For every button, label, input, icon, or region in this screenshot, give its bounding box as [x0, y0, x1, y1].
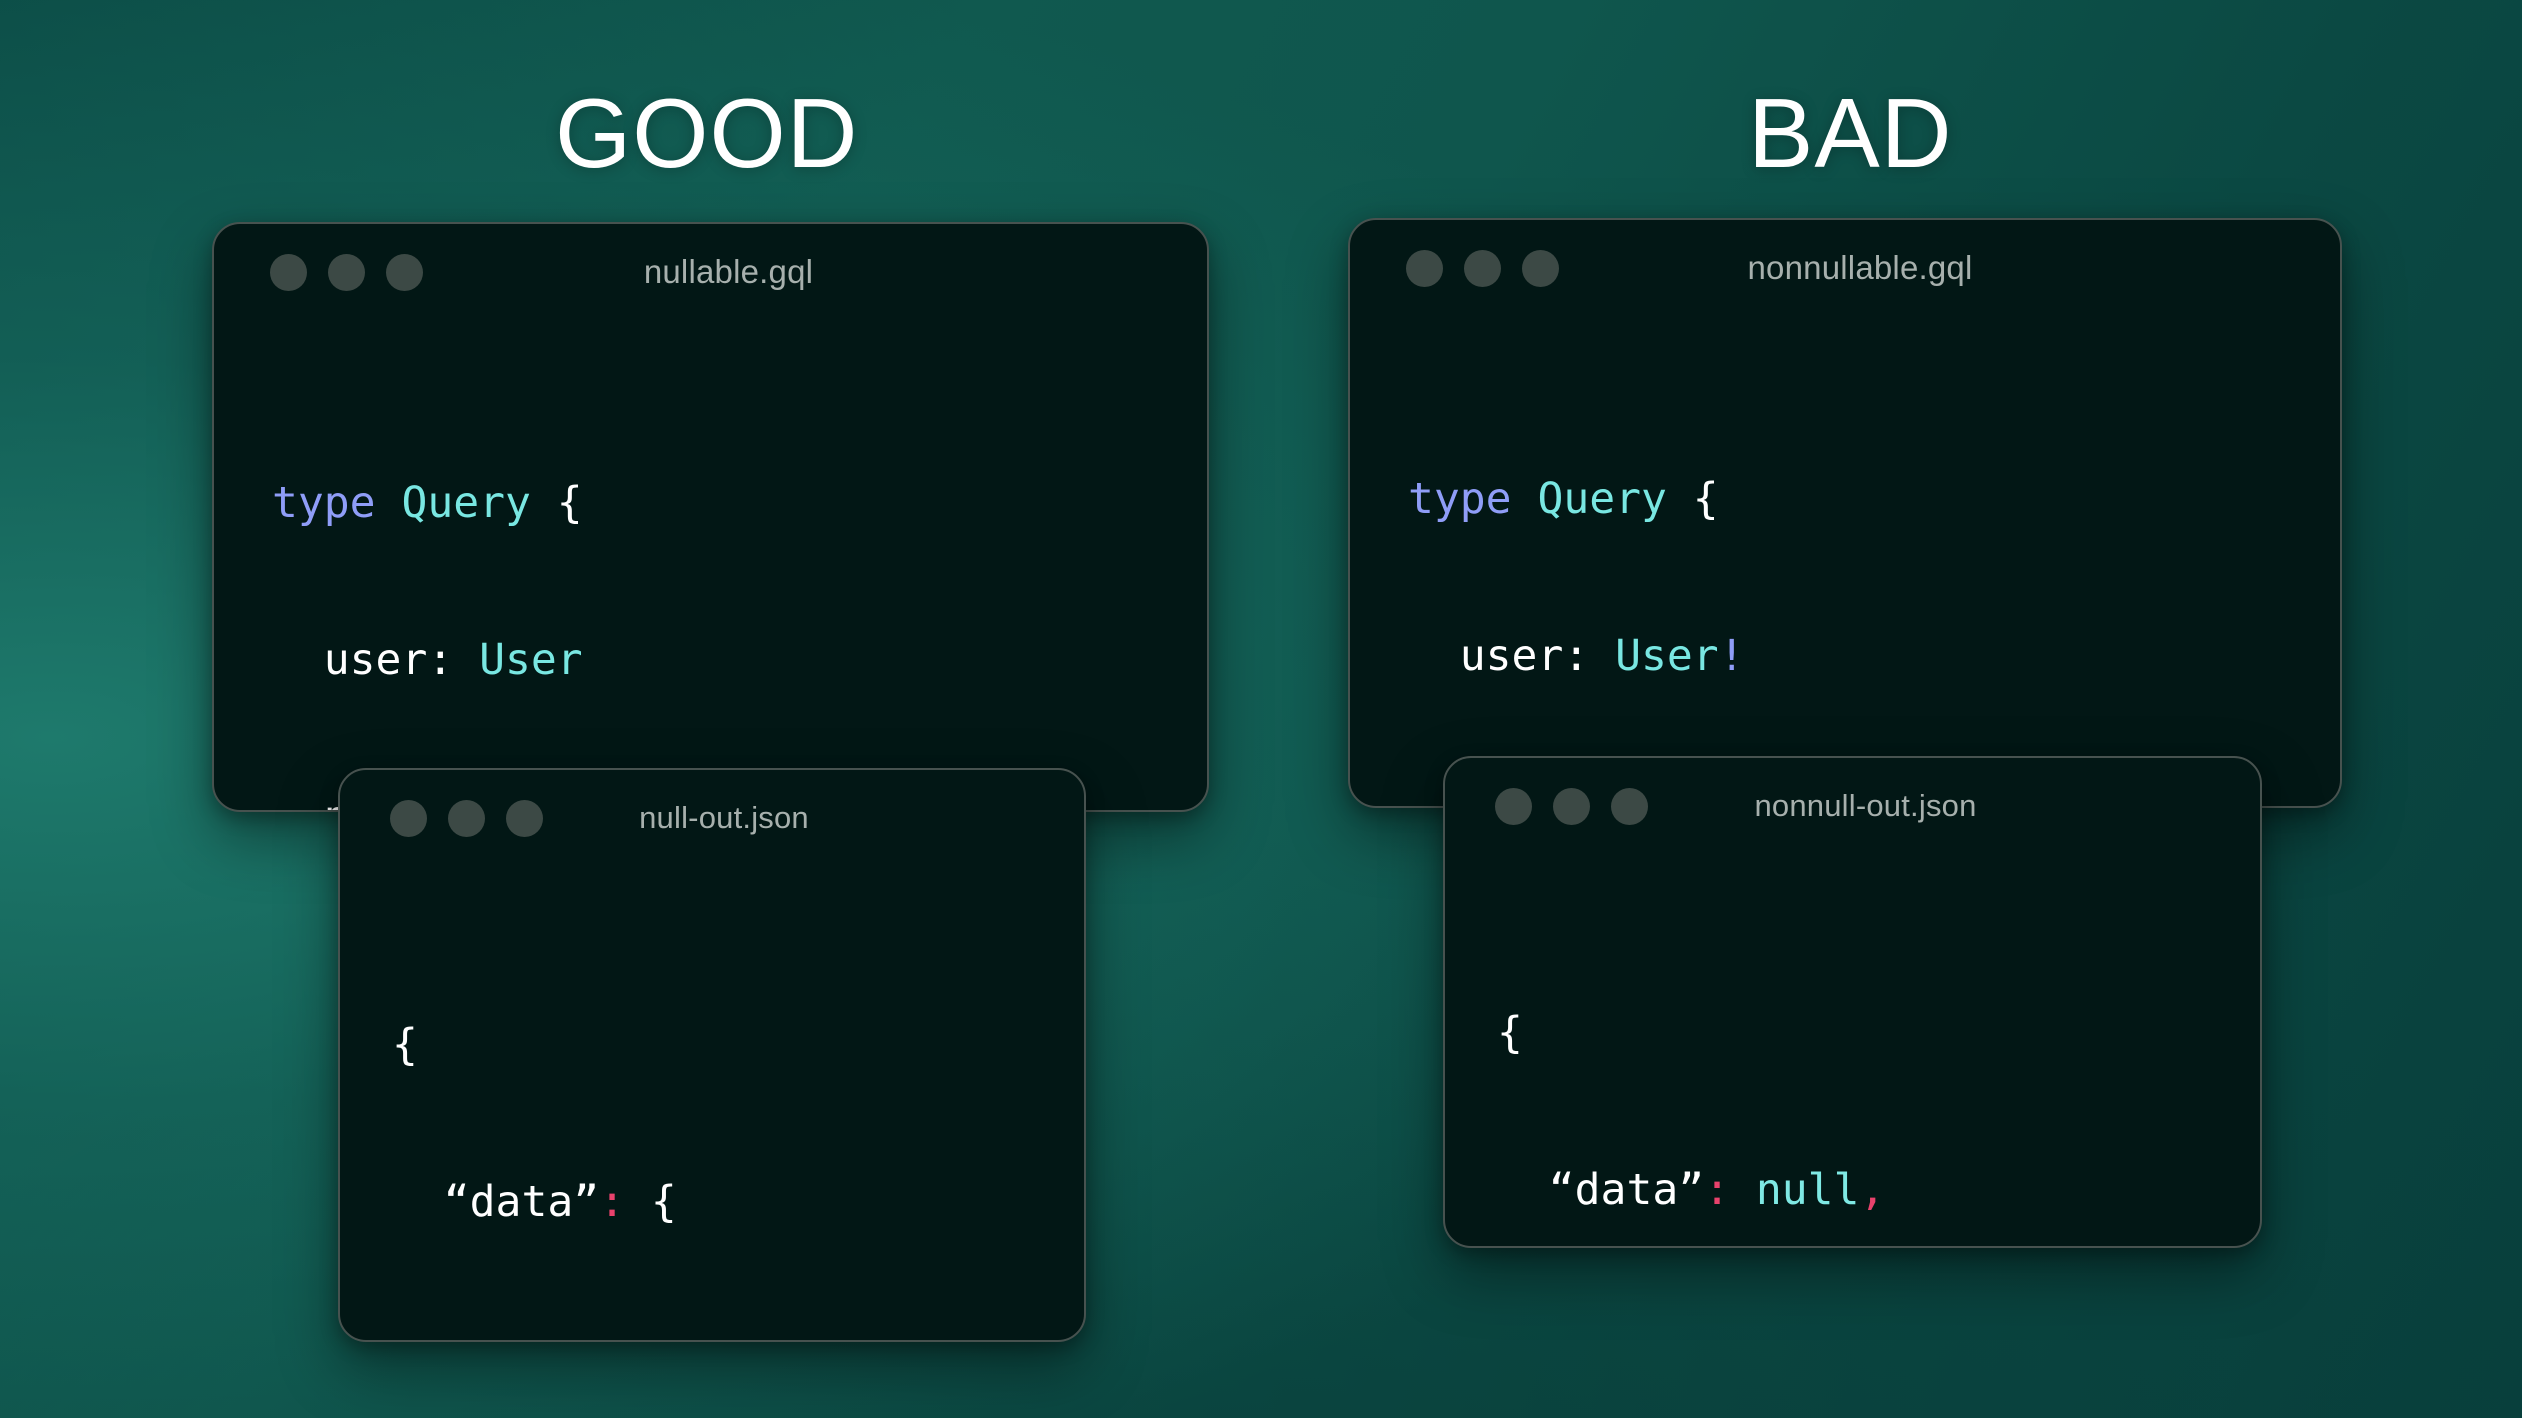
token-keyword: type	[1408, 474, 1512, 524]
token-key: “user”	[496, 1334, 651, 1342]
close-dot-icon[interactable]	[1495, 788, 1532, 825]
maximize-dot-icon[interactable]	[386, 254, 423, 291]
token-type: User	[1615, 631, 1719, 681]
maximize-dot-icon[interactable]	[1611, 788, 1648, 825]
token-key: “data”	[1549, 1165, 1704, 1215]
json-line: “data”: null,	[1497, 1164, 2260, 1216]
json-line: {	[392, 1019, 1084, 1071]
code-line: user: User!	[1408, 630, 2340, 682]
token-field: user:	[324, 635, 479, 685]
window-titlebar: null-out.json	[340, 770, 1084, 866]
slide-canvas: GOOD BAD nullable.gql type Query { user:…	[0, 0, 2522, 1418]
code-body: type Query { user: User product: Product…	[214, 320, 1207, 812]
code-body: type Query { user: User! product: Produc…	[1350, 316, 2340, 808]
token-value: null	[1756, 1165, 1860, 1215]
token-comma: ,	[1859, 1165, 1885, 1215]
token-field: user:	[1460, 631, 1615, 681]
token-colon: :	[858, 1334, 884, 1342]
maximize-dot-icon[interactable]	[1522, 250, 1559, 287]
code-line: type Query {	[1408, 473, 2340, 525]
traffic-lights	[1495, 788, 1648, 825]
token-brace: {	[392, 1020, 418, 1070]
traffic-lights	[390, 800, 543, 837]
token-brace: {	[1693, 474, 1719, 524]
token-colon: :	[1704, 1165, 1730, 1215]
token-type: Query	[1537, 474, 1666, 524]
minimize-dot-icon[interactable]	[1553, 788, 1590, 825]
traffic-lights	[1406, 250, 1559, 287]
json-line: “data”: {	[392, 1176, 1084, 1228]
json-body: { “data”: null, “errors”: [...] }	[1445, 854, 2260, 1248]
close-dot-icon[interactable]	[1406, 250, 1443, 287]
token-key: “id”	[754, 1334, 858, 1342]
column-heading-good: GOOD	[555, 84, 858, 182]
code-line: type Query {	[272, 477, 1207, 529]
token-keyword: type	[272, 478, 376, 528]
traffic-lights	[270, 254, 423, 291]
token-type: User	[479, 635, 583, 685]
code-line: user: User	[272, 634, 1207, 686]
minimize-dot-icon[interactable]	[448, 800, 485, 837]
column-heading-bad: BAD	[1748, 84, 1953, 182]
token-brace: {	[677, 1334, 755, 1342]
json-line: {	[1497, 1007, 2260, 1059]
json-line: “user”: { “id”: “1” }	[392, 1333, 1084, 1342]
token-brace: {	[625, 1177, 677, 1227]
close-dot-icon[interactable]	[270, 254, 307, 291]
token-key: “data”	[444, 1177, 599, 1227]
output-window-null-out-json[interactable]: null-out.json { “data”: { “user”: { “id”…	[338, 768, 1086, 1342]
token-colon: :	[599, 1177, 625, 1227]
token-brace: {	[1497, 1008, 1523, 1058]
code-window-nonnullable-gql[interactable]: nonnullable.gql type Query { user: User!…	[1348, 218, 2342, 808]
maximize-dot-icon[interactable]	[506, 800, 543, 837]
token-quote: ” }	[962, 1334, 1040, 1342]
token-brace: {	[557, 478, 583, 528]
token-bang: !	[1719, 631, 1745, 681]
token-colon: :	[651, 1334, 677, 1342]
window-titlebar: nonnullable.gql	[1350, 220, 2340, 316]
minimize-dot-icon[interactable]	[1464, 250, 1501, 287]
close-dot-icon[interactable]	[390, 800, 427, 837]
minimize-dot-icon[interactable]	[328, 254, 365, 291]
token-type: Query	[401, 478, 530, 528]
json-body: { “data”: { “user”: { “id”: “1” } }, “er…	[340, 866, 1084, 1342]
output-window-nonnull-out-json[interactable]: nonnull-out.json { “data”: null, “errors…	[1443, 756, 2262, 1248]
token-quote: “	[884, 1334, 936, 1342]
window-titlebar: nonnull-out.json	[1445, 758, 2260, 854]
code-window-nullable-gql[interactable]: nullable.gql type Query { user: User pro…	[212, 222, 1209, 812]
token-value: 1	[936, 1334, 962, 1342]
window-titlebar: nullable.gql	[214, 224, 1207, 320]
